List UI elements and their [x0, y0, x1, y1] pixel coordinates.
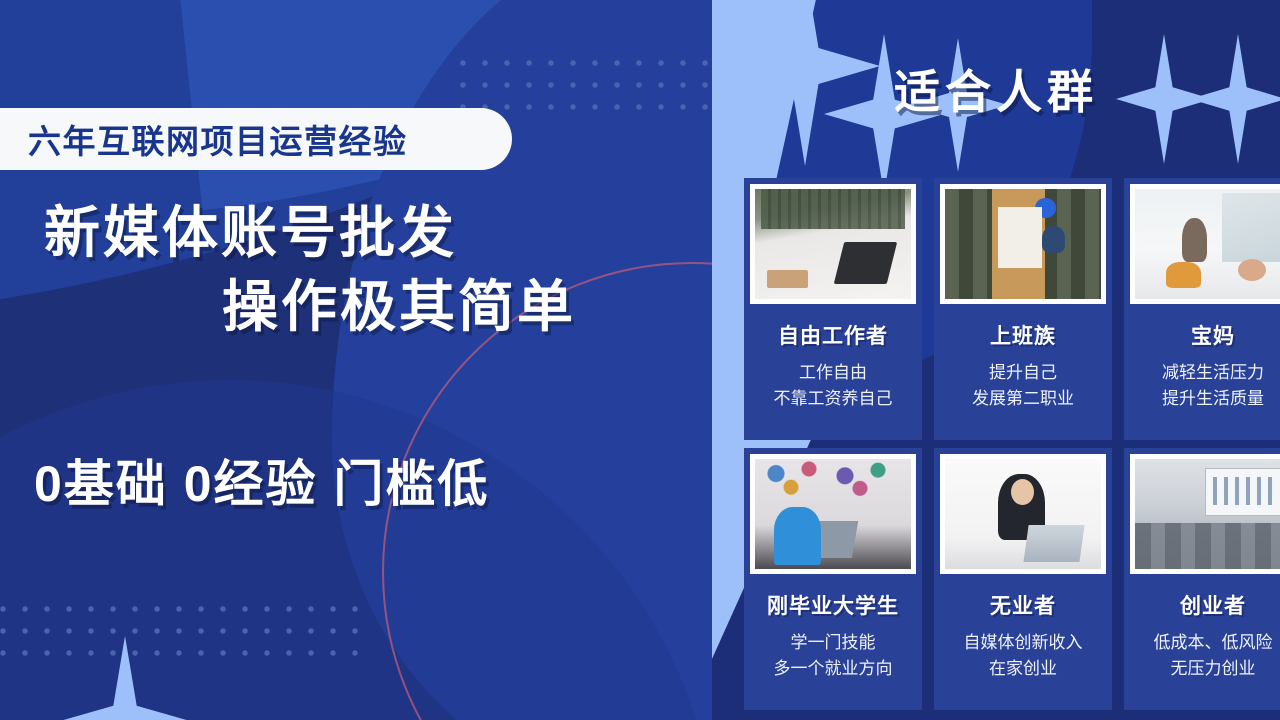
dot-grid-bottom [0, 598, 372, 666]
audience-card-grid: 自由工作者 工作自由 不靠工资养自己 上班族 提升自己 发展第二职业 [744, 178, 1280, 710]
card-desc-line-1: 学一门技能 [774, 630, 893, 656]
card-title: 创业者 [1180, 590, 1246, 620]
card-desc-line-2: 不靠工资养自己 [774, 386, 893, 412]
card-title: 宝妈 [1191, 320, 1235, 350]
card-photo-frame [750, 184, 916, 304]
card-photo-frame [1130, 454, 1280, 574]
headline-group: 新媒体账号批发 操作极其简单 [0, 196, 712, 344]
classroom-lecture-photo [1135, 459, 1280, 569]
card-desc-line-2: 在家创业 [964, 656, 1083, 682]
card-photo-frame [940, 184, 1106, 304]
target-audience-panel: 适合人群 自由工作者 工作自由 不靠工资养自己 上班族 提升自己 [712, 0, 1280, 720]
card-desc-line-1: 减轻生活压力 [1162, 360, 1264, 386]
card-desc-line-1: 提升自己 [972, 360, 1074, 386]
card-title: 自由工作者 [778, 320, 888, 350]
audience-card[interactable]: 无业者 自媒体创新收入 在家创业 [934, 448, 1112, 710]
card-photo-frame [1130, 184, 1280, 304]
headline-line-1: 新媒体账号批发 [0, 196, 712, 270]
subline-text: 0基础 0经验 门槛低 [34, 444, 489, 516]
student-at-desk-photo [755, 459, 911, 569]
audience-card[interactable]: 自由工作者 工作自由 不靠工资养自己 [744, 178, 922, 440]
card-desc-line-1: 自媒体创新收入 [964, 630, 1083, 656]
card-desc-line-1: 工作自由 [774, 360, 893, 386]
promo-poster: 六年互联网项目运营经验 新媒体账号批发 操作极其简单 0基础 0经验 门槛低 适… [0, 0, 1280, 720]
audience-card[interactable]: 上班族 提升自己 发展第二职业 [934, 178, 1112, 440]
laptop-on-bed-photo [755, 189, 911, 299]
panel-title: 适合人群 [712, 56, 1280, 122]
card-description: 减轻生活压力 提升生活质量 [1162, 360, 1264, 411]
overhead-office-desk-photo [945, 189, 1101, 299]
headline-line-2: 操作极其简单 [0, 270, 712, 344]
stressed-woman-laptop-photo [945, 459, 1101, 569]
card-photo-frame [940, 454, 1106, 574]
card-description: 低成本、低风险 无压力创业 [1154, 630, 1273, 681]
card-title: 刚毕业大学生 [767, 590, 899, 620]
card-title: 无业者 [990, 590, 1056, 620]
audience-card[interactable]: 刚毕业大学生 学一门技能 多一个就业方向 [744, 448, 922, 710]
card-title: 上班族 [990, 320, 1056, 350]
card-desc-line-2: 提升生活质量 [1162, 386, 1264, 412]
experience-badge-label: 六年互联网项目运营经验 [28, 115, 408, 163]
card-photo-frame [750, 454, 916, 574]
card-description: 提升自己 发展第二职业 [972, 360, 1074, 411]
card-desc-line-1: 低成本、低风险 [1154, 630, 1273, 656]
audience-card[interactable]: 创业者 低成本、低风险 无压力创业 [1124, 448, 1280, 710]
audience-card[interactable]: 宝妈 减轻生活压力 提升生活质量 [1124, 178, 1280, 440]
card-desc-line-2: 多一个就业方向 [774, 656, 893, 682]
card-desc-line-2: 无压力创业 [1154, 656, 1273, 682]
experience-badge: 六年互联网项目运营经验 [0, 108, 512, 170]
mother-with-baby-on-bed-photo [1135, 189, 1280, 299]
card-description: 工作自由 不靠工资养自己 [774, 360, 893, 411]
card-description: 学一门技能 多一个就业方向 [774, 630, 893, 681]
left-promo-panel: 六年互联网项目运营经验 新媒体账号批发 操作极其简单 0基础 0经验 门槛低 [0, 0, 712, 720]
card-description: 自媒体创新收入 在家创业 [964, 630, 1083, 681]
card-desc-line-2: 发展第二职业 [972, 386, 1074, 412]
